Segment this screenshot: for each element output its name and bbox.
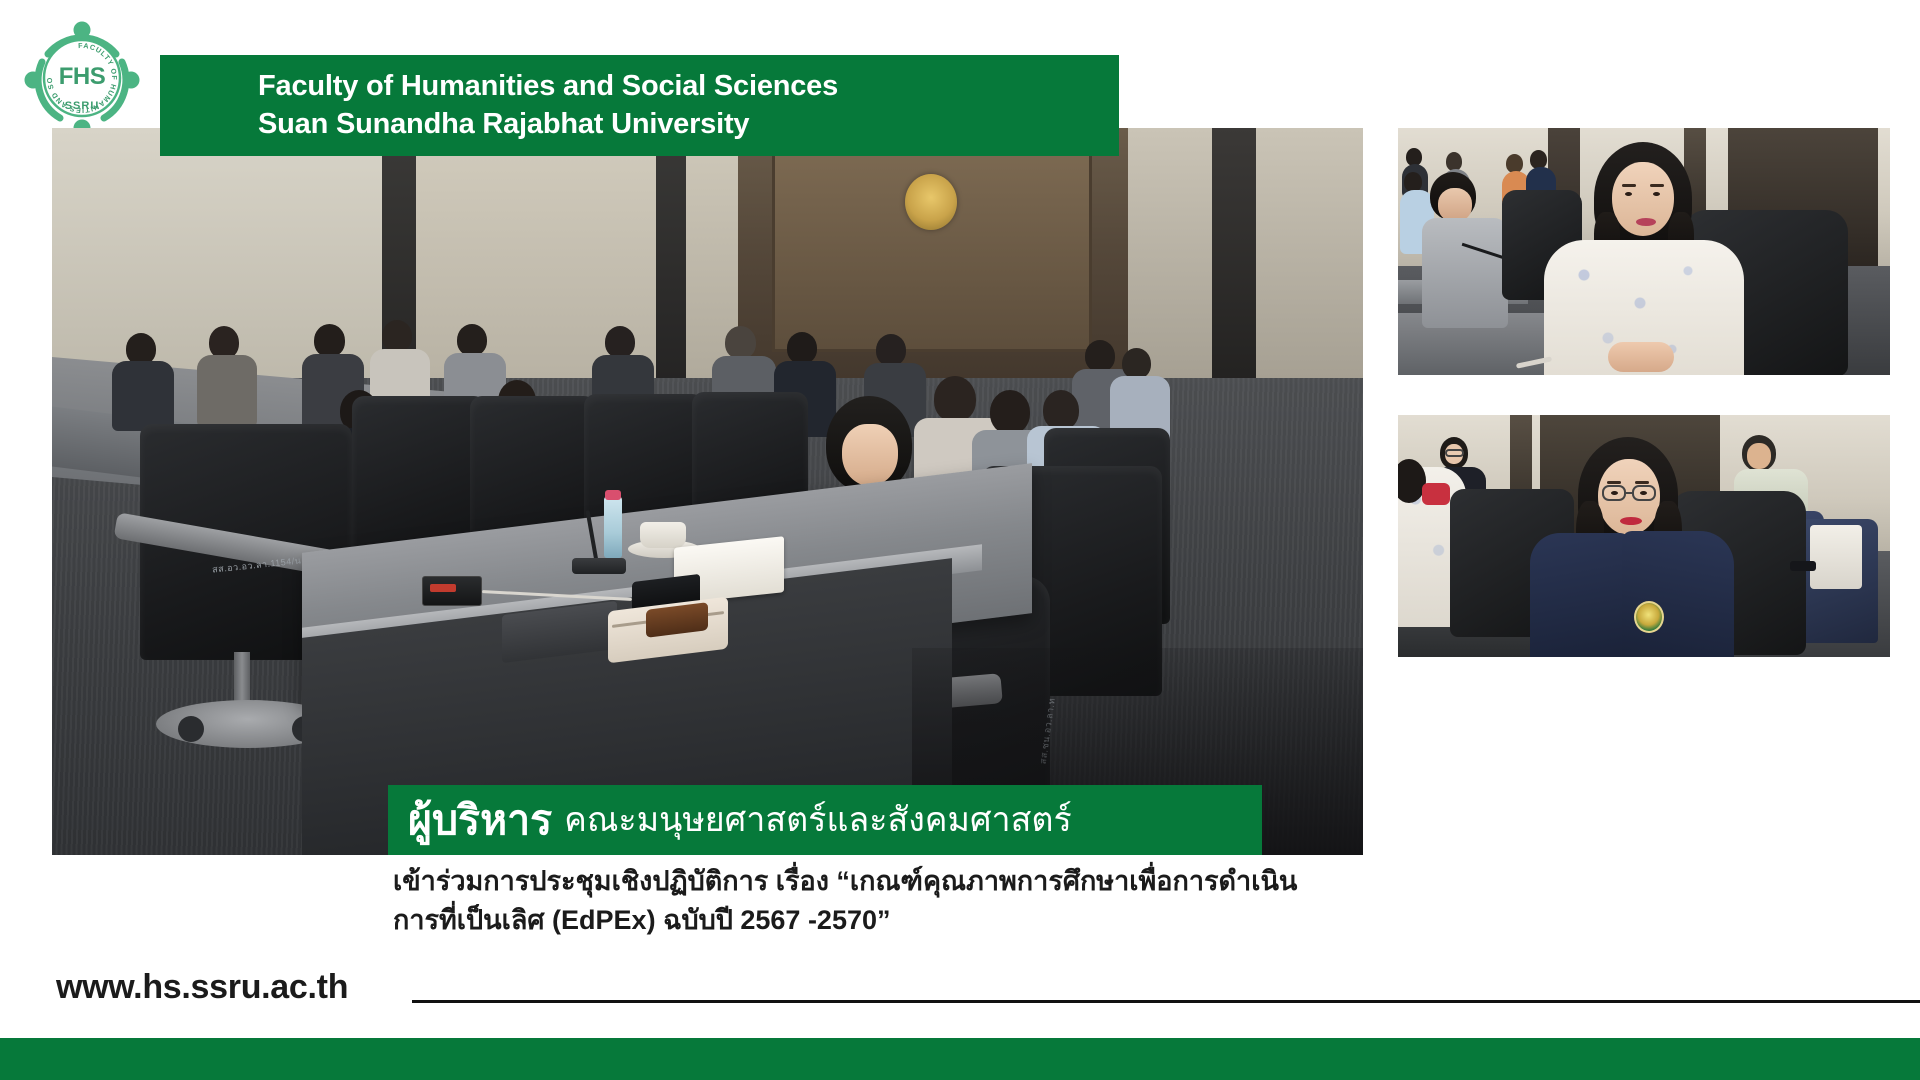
headline-banner: ผู้บริหาร คณะมนุษยศาสตร์และสังคมศาสตร์	[388, 785, 1262, 855]
header-line-2: Suan Sunandha Rajabhat University	[258, 106, 1119, 144]
svg-text:SSRU: SSRU	[65, 100, 100, 112]
caption-block: เข้าร่วมการประชุมเชิงปฏิบัติการ เรื่อง “…	[393, 862, 1433, 940]
meeting-room-wide-photo: สส.อว.อว.ลา.1154/น สส.ชน.อว.ลา.ท	[52, 128, 1363, 855]
fhs-ssru-logo: FACULTY OF HUMANITIES AND SOCIAL SCIENCE…	[18, 14, 146, 142]
svg-text:FHS: FHS	[59, 63, 106, 90]
attendee-portrait-photo-2	[1398, 415, 1890, 657]
headline-bold-text: ผู้บริหาร	[408, 800, 552, 841]
faculty-header-bar: Faculty of Humanities and Social Science…	[160, 55, 1119, 156]
caption-line-2: การที่เป็นเลิศ (EdPEx) ฉบับปี 2567 -2570…	[393, 901, 1433, 940]
headline-rest-text: คณะมนุษยศาสตร์และสังคมศาสตร์	[564, 803, 1072, 837]
poster-canvas: FACULTY OF HUMANITIES AND SOCIAL SCIENCE…	[0, 0, 1920, 1080]
attendee-portrait-photo-1	[1398, 128, 1890, 375]
footer-green-bar	[0, 1038, 1920, 1080]
header-line-1: Faculty of Humanities and Social Science…	[258, 68, 1119, 106]
website-url[interactable]: www.hs.ssru.ac.th	[56, 968, 348, 1007]
footer-divider-rule	[412, 1000, 1920, 1003]
caption-line-1: เข้าร่วมการประชุมเชิงปฏิบัติการ เรื่อง “…	[393, 862, 1433, 901]
